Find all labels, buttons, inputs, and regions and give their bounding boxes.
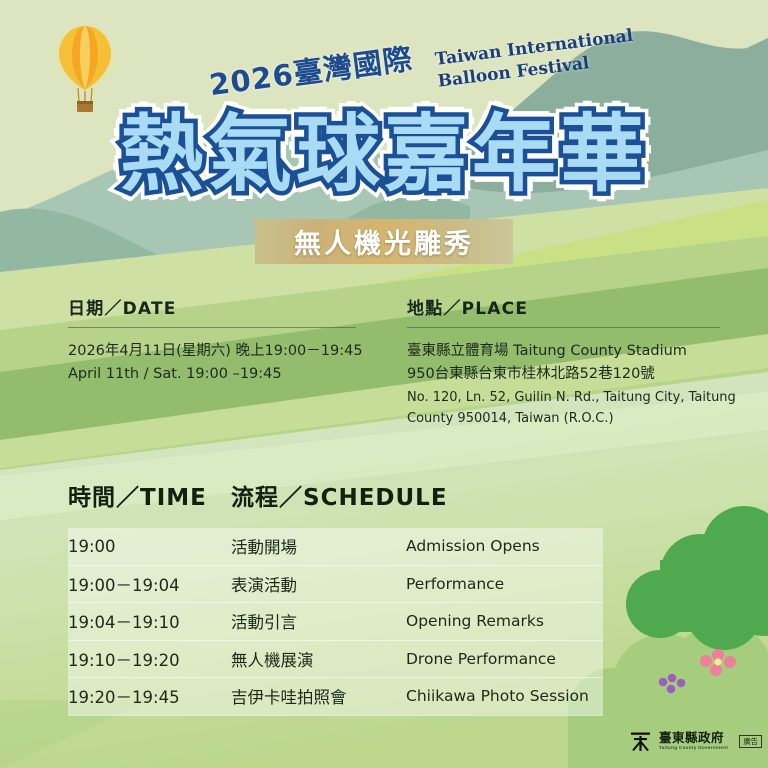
schedule-row: 19:10－19:20無人機展演Drone Performance (68, 640, 603, 678)
schedule-row: 19:00活動開場Admission Opens (68, 528, 603, 565)
schedule-row: 19:04－19:10活動引言Opening Remarks (68, 603, 603, 641)
ad-badge: 廣告 (739, 735, 762, 749)
address-en-line1: No. 120, Ln. 52, Guilin N. Rd., Taitung … (407, 387, 720, 408)
schedule-cell-time: 19:10－19:20 (68, 640, 231, 678)
schedule-cell-en: Drone Performance (406, 640, 603, 678)
poster-root: 2026臺灣國際 Taiwan International Balloon Fe… (0, 0, 768, 768)
schedule-cell-cn: 無人機展演 (231, 640, 406, 678)
schedule-cell-cn: 表演活動 (231, 565, 406, 603)
schedule-cell-en: Opening Remarks (406, 603, 603, 641)
footer-government-logo: 臺東縣政府 Taitung County Government 廣告 (629, 730, 762, 753)
schedule-heading-time: 時間／TIME (68, 478, 231, 512)
schedule-cell-cn: 活動引言 (231, 603, 406, 641)
address-cn: 950台東縣台東市桂林北路52巷120號 (407, 363, 720, 386)
schedule-cell-en: Performance (406, 565, 603, 603)
address-en-line2: County 950014, Taiwan (R.O.C.) (407, 408, 720, 429)
schedule-headings: 時間／TIME 流程／SCHEDULE (68, 478, 448, 512)
schedule-row: 19:00－19:04表演活動Performance (68, 565, 603, 603)
place-heading: 地點／PLACE (407, 294, 720, 319)
date-value-cn: 2026年4月11日(星期六) 晚上19:00－19:45 (68, 340, 356, 363)
footer-org-en: Taitung County Government (659, 746, 728, 751)
date-block: 日期／DATE 2026年4月11日(星期六) 晚上19:00－19:45 Ap… (68, 294, 356, 387)
venue-name: 臺東縣立體育場 Taitung County Stadium (407, 340, 720, 363)
place-block: 地點／PLACE 臺東縣立體育場 Taitung County Stadium … (407, 294, 720, 429)
place-divider (407, 327, 720, 328)
schedule-cell-time: 19:04－19:10 (68, 603, 231, 641)
main-title-fill: 熱氣球嘉年華 (0, 112, 768, 196)
date-divider (68, 327, 356, 328)
subtitle-text: 無人機光雕秀 (294, 222, 474, 261)
taitung-emblem-icon (629, 730, 652, 753)
schedule-row: 19:20－19:45吉伊卡哇拍照會Chiikawa Photo Session (68, 678, 603, 716)
schedule-cell-en: Admission Opens (406, 528, 603, 565)
footer-org-text: 臺東縣政府 Taitung County Government (659, 732, 728, 751)
schedule-heading-schedule: 流程／SCHEDULE (231, 478, 448, 512)
hot-air-balloon-icon (52, 22, 118, 118)
date-value-en: April 11th / Sat. 19:00 –19:45 (68, 363, 356, 386)
schedule-cell-time: 19:00－19:04 (68, 565, 231, 603)
subtitle-banner: 無人機光雕秀 (255, 219, 513, 264)
schedule-cell-en: Chiikawa Photo Session (406, 678, 603, 716)
schedule-cell-cn: 吉伊卡哇拍照會 (231, 678, 406, 716)
schedule-cell-time: 19:00 (68, 528, 231, 565)
schedule-cell-cn: 活動開場 (231, 528, 406, 565)
main-festival-title: 熱氣球嘉年華 熱氣球嘉年華 熱氣球嘉年華 (0, 112, 768, 196)
schedule-cell-time: 19:20－19:45 (68, 678, 231, 716)
date-heading: 日期／DATE (68, 294, 356, 319)
footer-org-cn: 臺東縣政府 (659, 732, 728, 745)
schedule-table: 19:00活動開場Admission Opens19:00－19:04表演活動P… (68, 528, 603, 716)
